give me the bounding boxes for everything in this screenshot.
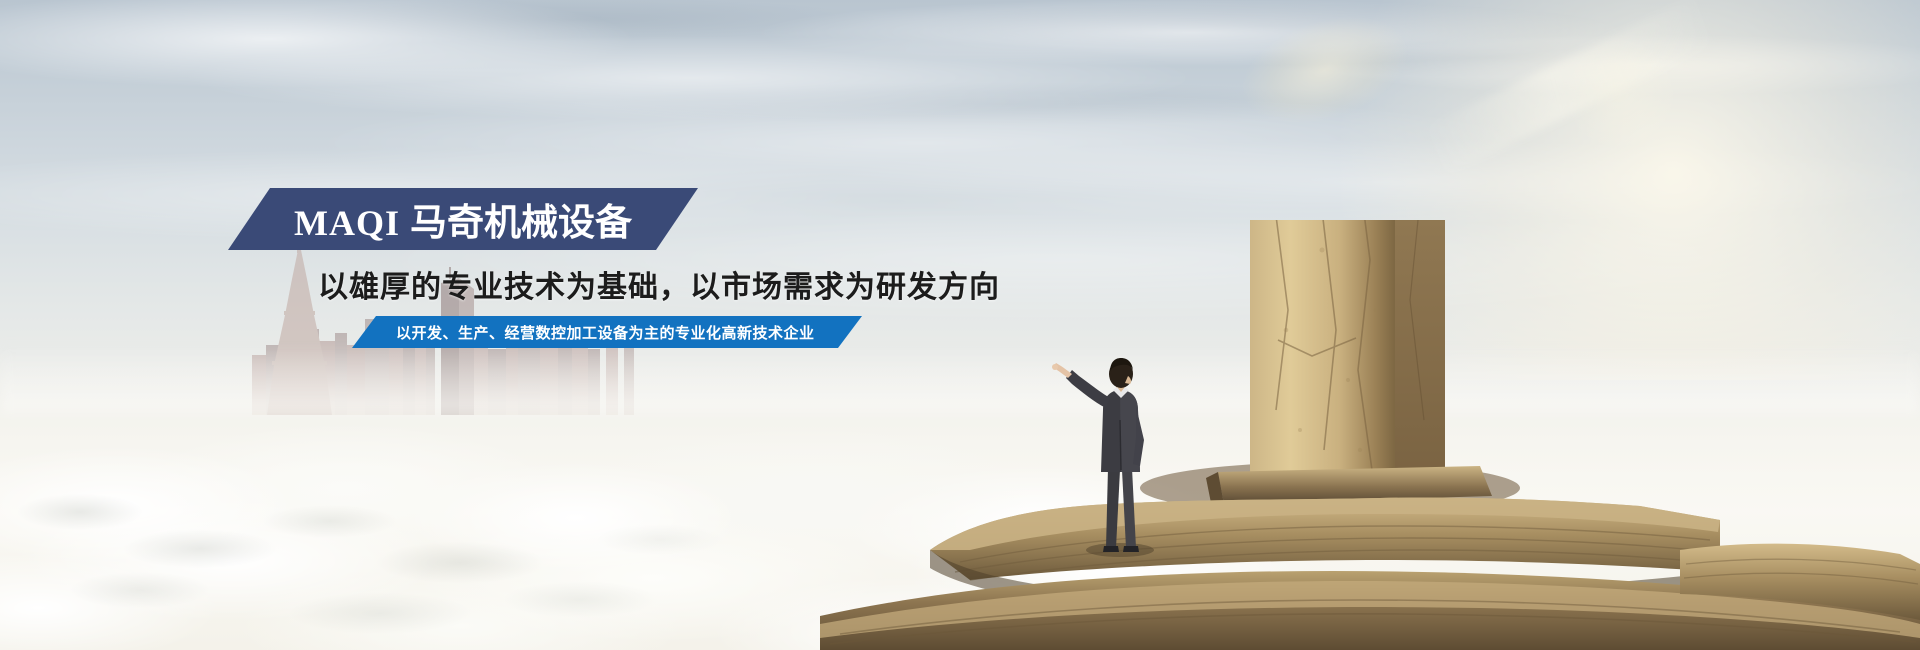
- hero-banner: MAQI 马奇机械设备 以雄厚的专业技术为基础，以市场需求为研发方向 以开发、生…: [0, 0, 1920, 650]
- lens-flare-orb-icon: [1560, 34, 1680, 154]
- rock-cliff-scene: [820, 220, 1920, 650]
